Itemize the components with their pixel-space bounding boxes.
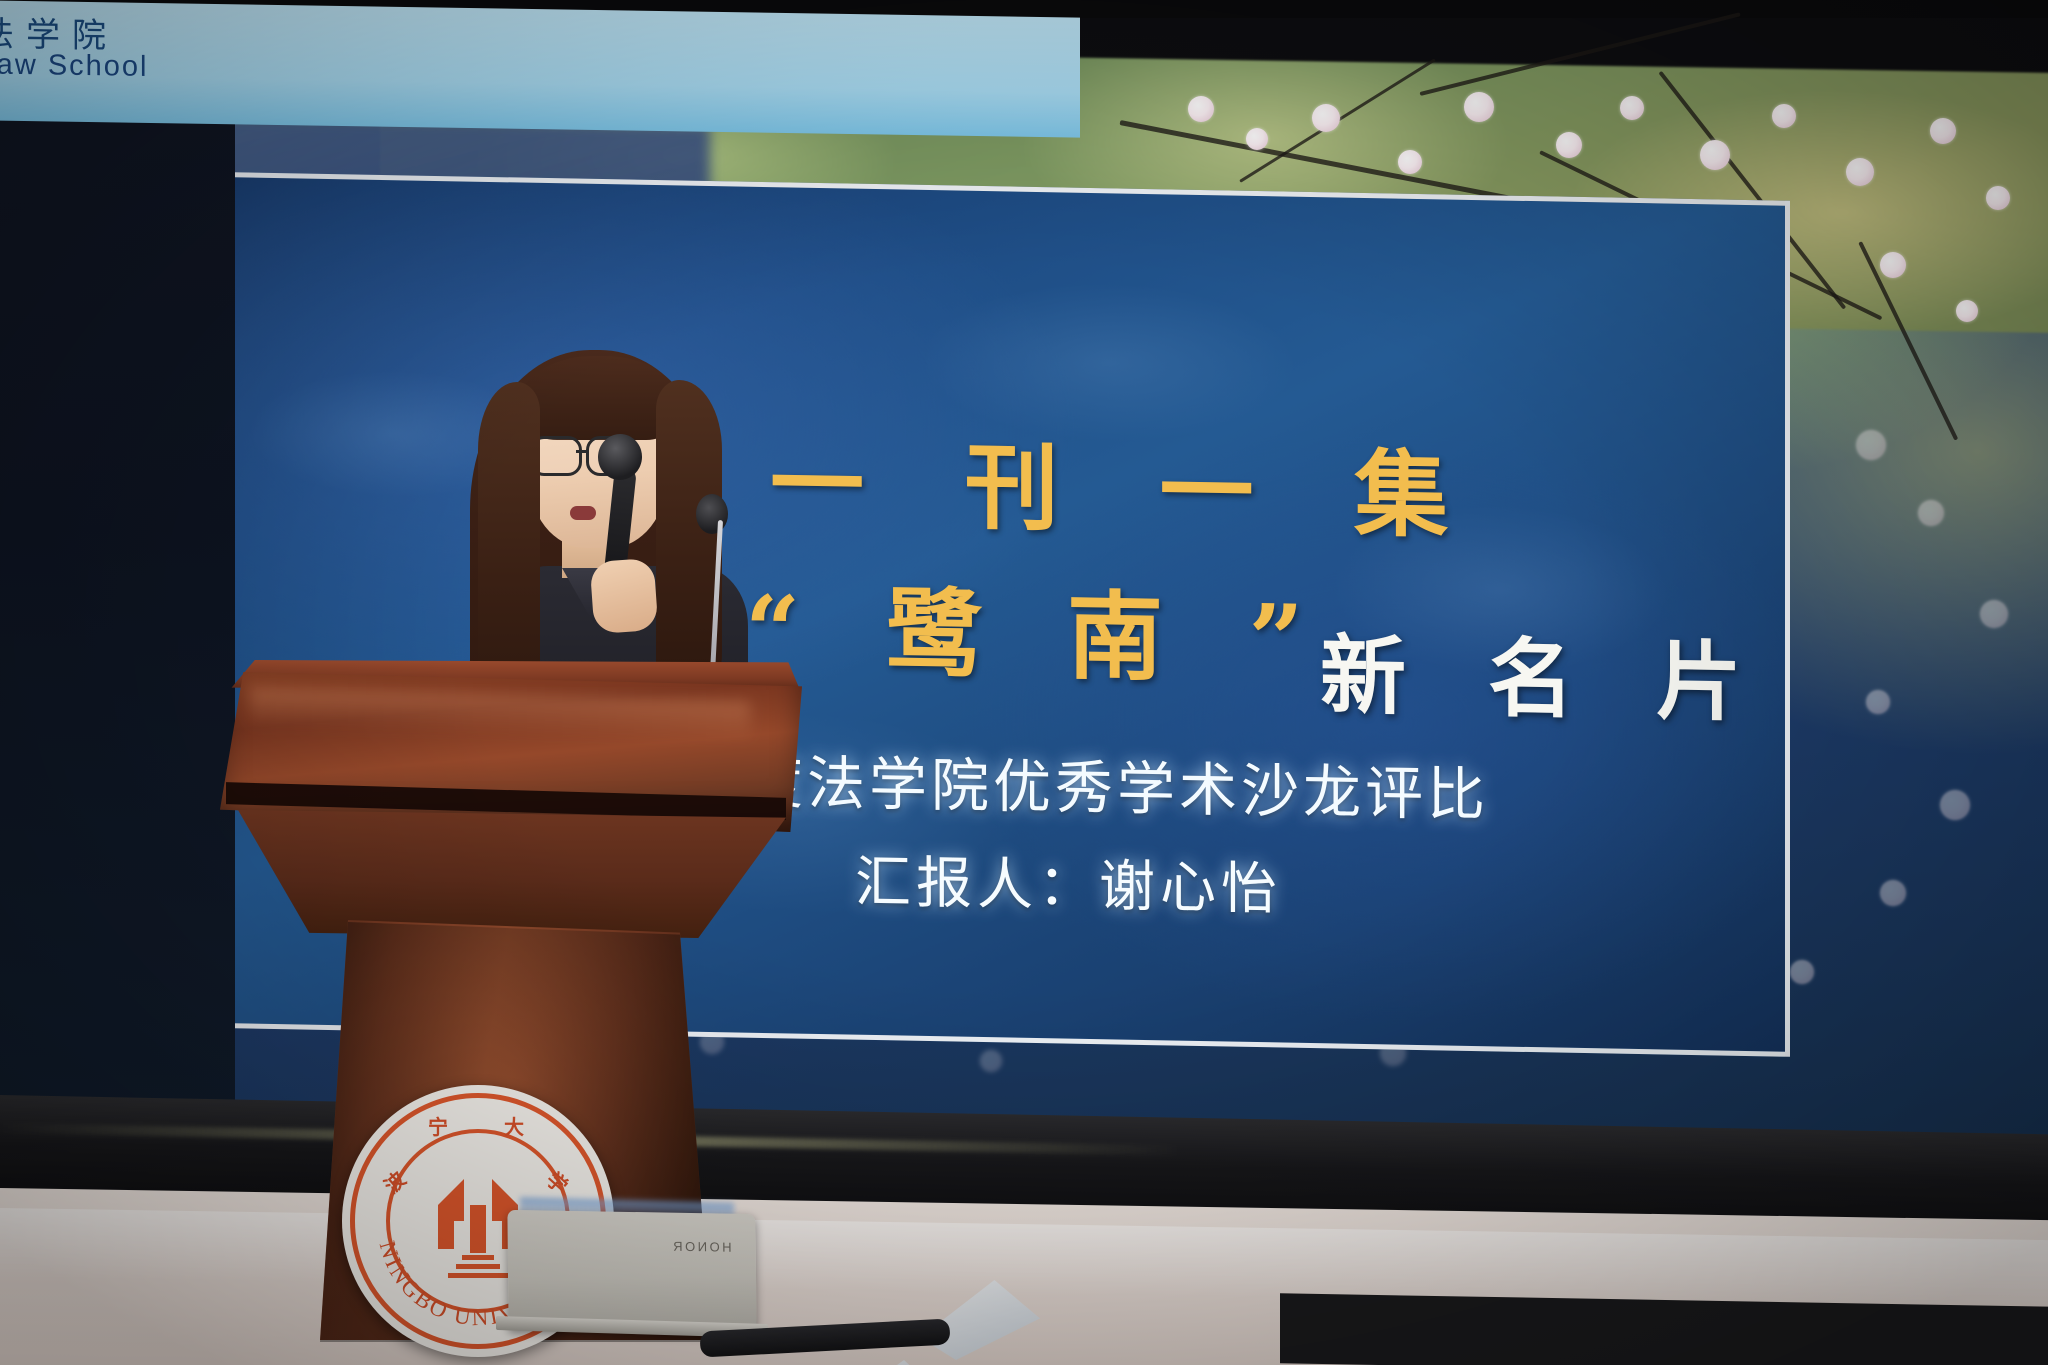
speaker-mouth bbox=[570, 506, 596, 520]
laptop-brand-label: HONOR bbox=[671, 1239, 732, 1255]
slide-subtitle: 度法学院优秀学术沙龙评比 bbox=[745, 735, 1489, 832]
presentation-scene: 一 刊 一 集 “ 鹭 南 ” 新 名 片 度法学院优秀学术沙龙评比 汇报人：谢… bbox=[0, 0, 2048, 1365]
speaker-hand bbox=[590, 558, 659, 634]
floor-dark-strip bbox=[1280, 1293, 2048, 1365]
lectern-skirt bbox=[238, 810, 786, 938]
laptop-lid[interactable]: HONOR bbox=[507, 1210, 756, 1334]
slide-presenter: 汇报人：谢心怡 bbox=[855, 837, 1282, 925]
gooseneck-microphone-head bbox=[696, 494, 728, 534]
banner-english-text: y Law School bbox=[0, 48, 149, 84]
lectern: 宁 大 波 学 NINGBO UNIVERSITY bbox=[220, 660, 840, 1365]
slide-title-line1: 一 刊 一 集 bbox=[770, 408, 1482, 556]
glasses-bridge bbox=[576, 450, 588, 453]
law-school-banner: 法学院 y Law School bbox=[0, 0, 1080, 138]
slide-title-tail: 新 名 片 bbox=[1320, 605, 1768, 738]
